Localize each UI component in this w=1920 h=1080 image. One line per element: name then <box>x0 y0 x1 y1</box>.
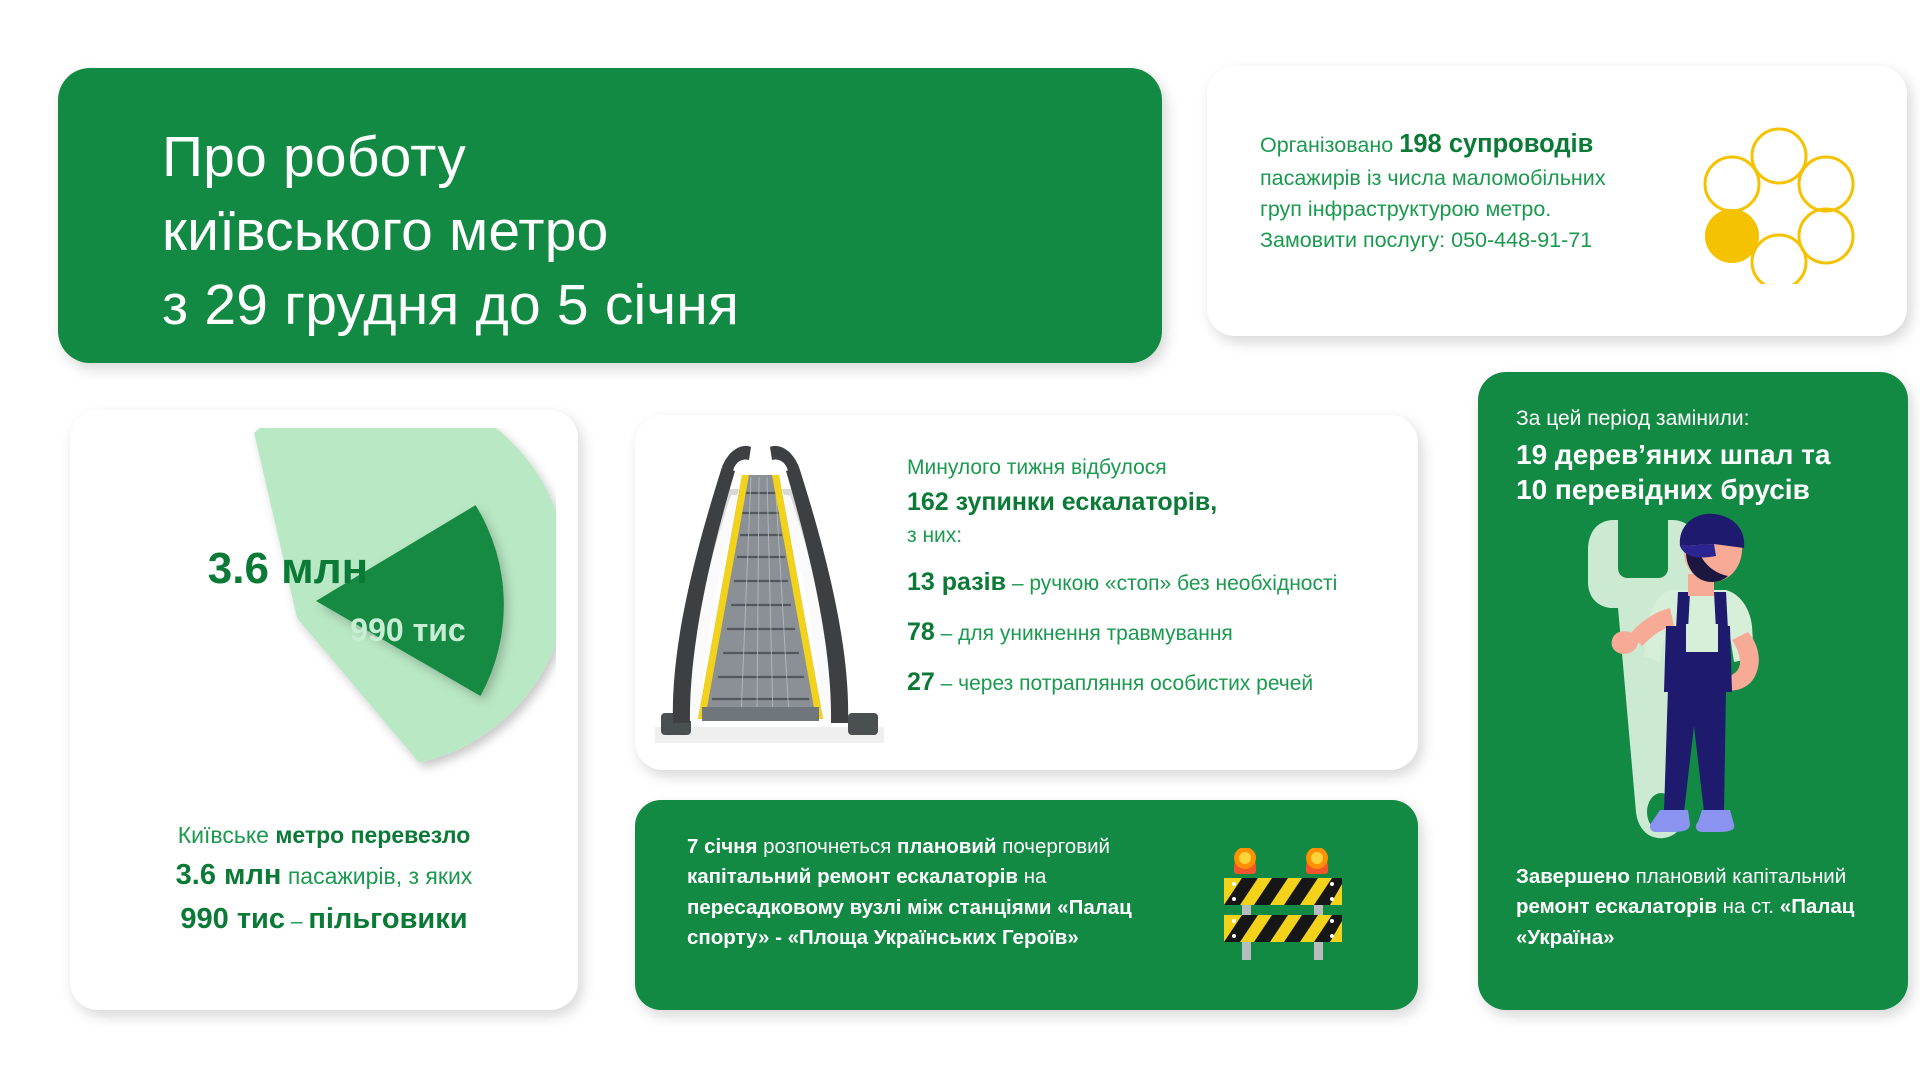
escort-line4: Замовити послугу: 050-448-91-71 <box>1260 228 1592 252</box>
escort-line3: груп інфраструктурою метро. <box>1260 197 1551 221</box>
escort-line2: пасажирів із числа маломобільних <box>1260 166 1606 190</box>
escort-service-card: Організовано 198 супроводів пасажирів із… <box>1207 66 1907 336</box>
sunflower-icon <box>1699 124 1859 284</box>
repair-p2: почерговий <box>997 835 1110 858</box>
sleepers-lead: За цей період замінили: <box>1516 407 1750 430</box>
escalator-icon <box>647 431 892 756</box>
escalator-item-2: 27 – через потрапляння особистих речей <box>907 664 1387 701</box>
repair-b4: пересадковому вузлі між станціями «Палац… <box>687 896 1132 949</box>
sleepers-foot-b2: ремонт ескалаторів <box>1516 895 1717 918</box>
pie-label-benefit: 990 тис <box>350 612 465 648</box>
escalator-item-1-text: – для уникнення травмування <box>935 622 1233 645</box>
escalator-item-1-value: 78 <box>907 618 935 646</box>
sleepers-count: 19 дерев’яних шпал та 10 перевідних брус… <box>1516 437 1866 508</box>
repair-date: 7 січня <box>687 835 757 858</box>
sleepers-foot-p1: плановий капітальний <box>1630 865 1846 888</box>
title-card: Про роботу київського метро з 29 грудня … <box>58 68 1162 363</box>
planned-repair-card: 7 січня розпочнеться плановий почерговий… <box>635 800 1418 1010</box>
pie-caption-dash: – <box>285 910 308 933</box>
pie-caption-line1-plain: Київське <box>178 822 276 848</box>
pie-caption-line2-plain: пасажирів, з яких <box>281 863 472 889</box>
repair-b3: капітальний ремонт ескалаторів <box>687 865 1018 888</box>
pie-caption-benefit: 990 тис <box>180 903 285 935</box>
construction-barrier-icon <box>1220 848 1370 968</box>
sleepers-head: За цей період замінили: 19 дерев’яних шп… <box>1516 404 1866 508</box>
escalator-item-0-text: – ручкою «стоп» без необхідності <box>1006 572 1337 595</box>
sleepers-replacement-card: За цей період замінили: 19 дерев’яних шп… <box>1478 372 1908 1010</box>
pie-caption: Київське метро перевезло 3.6 млн пасажир… <box>70 818 578 941</box>
passengers-pie-card: 3.6 млн 990 тис Київське метро перевезло… <box>70 410 578 1010</box>
escort-lead: Організовано <box>1260 133 1399 157</box>
page-title: Про роботу київського метро з 29 грудня … <box>162 120 1122 342</box>
escalator-item-2-value: 27 <box>907 668 935 696</box>
escalator-lead: Минулого тижня відбулося <box>907 453 1387 484</box>
passengers-pie-chart: 3.6 млн 990 тис <box>92 428 556 808</box>
repair-text: 7 січня розпочнеться плановий почерговий… <box>687 832 1207 953</box>
escalator-text: Минулого тижня відбулося 162 зупинки еск… <box>907 453 1387 701</box>
sleepers-foot-b1: Завершено <box>1516 865 1630 888</box>
repair-b2: плановий <box>897 835 997 858</box>
pie-caption-line1-bold: метро перевезло <box>275 822 470 848</box>
worker-with-wrench-icon <box>1518 512 1898 852</box>
repair-p1: розпочнеться <box>757 835 897 858</box>
escalator-item-2-text: – через потрапляння особистих речей <box>935 672 1313 695</box>
escalator-item-0-value: 13 разів <box>907 568 1006 596</box>
escalator-stops-card: Минулого тижня відбулося 162 зупинки еск… <box>635 415 1418 770</box>
sleepers-foot-p2: на ст. <box>1717 895 1780 918</box>
pie-caption-benefit-label: пільговики <box>308 903 467 935</box>
escalator-item-1: 78 – для уникнення травмування <box>907 614 1387 651</box>
escalator-item-0: 13 разів – ручкою «стоп» без необхідност… <box>907 564 1387 601</box>
escalator-sub: з них: <box>907 521 1387 552</box>
pie-caption-total: 3.6 млн <box>176 859 282 891</box>
escort-count: 198 супроводів <box>1399 130 1593 158</box>
pie-label-main: 3.6 млн <box>208 544 368 593</box>
infographic-root: Про роботу київського метро з 29 грудня … <box>0 0 1920 1080</box>
repair-p3: на <box>1018 865 1046 888</box>
sleepers-foot: Завершено плановий капітальний ремонт ес… <box>1516 862 1856 953</box>
escort-text: Організовано 198 супроводів пасажирів із… <box>1260 126 1730 256</box>
escalator-headline: 162 зупинки ескалаторів, <box>907 488 1217 516</box>
